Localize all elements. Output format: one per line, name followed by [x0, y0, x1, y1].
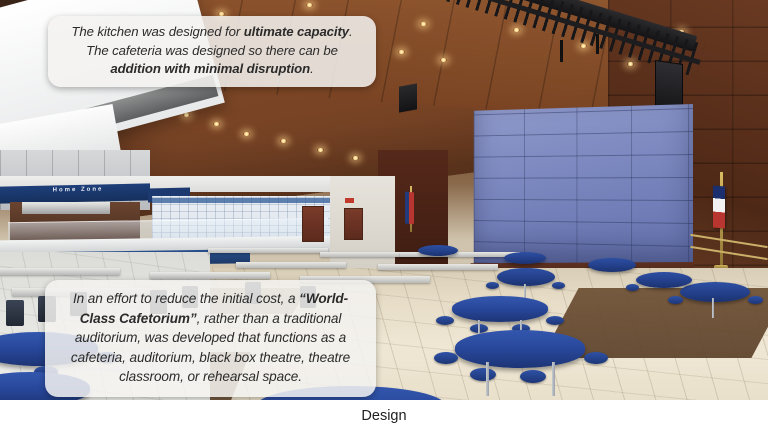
blue-acoustic-stage-wall	[474, 104, 693, 270]
ceiling-downlight	[213, 122, 220, 126]
texas-flag	[713, 185, 725, 228]
table-stool	[434, 352, 458, 364]
ceiling-downlight	[440, 58, 447, 62]
rect-table	[0, 268, 120, 275]
callout-world-class-cafetorium: In an effort to reduce the initial cost,…	[45, 280, 376, 397]
cafeteria-table	[497, 268, 555, 286]
exit-door-secondary	[344, 208, 363, 240]
ceiling-downlight	[183, 113, 190, 117]
callout-kitchen-capacity: The kitchen was designed for ultimate ca…	[48, 16, 376, 87]
rect-table	[208, 248, 328, 253]
callout-1-seg-3-bold: addition with minimal disruption	[110, 61, 310, 76]
table-leg	[712, 298, 714, 318]
ceiling-downlight	[306, 3, 313, 7]
us-flag	[405, 192, 414, 225]
cafeteria-table	[418, 245, 458, 256]
table-stool	[486, 282, 499, 289]
table-stool	[584, 352, 608, 364]
slide-caption-label: Design	[361, 408, 406, 424]
cafeteria-table	[504, 252, 546, 264]
table-leg	[486, 362, 489, 396]
table-stool	[470, 368, 496, 381]
truss-hanger	[596, 34, 599, 54]
cafeteria-table	[680, 282, 750, 302]
hanging-speaker-small	[399, 83, 417, 112]
cafeteria-table	[455, 330, 585, 368]
rect-table	[378, 264, 498, 270]
ceiling-downlight	[513, 28, 520, 32]
rect-table	[236, 262, 346, 268]
ceiling-downlight	[580, 44, 587, 48]
slide-root: Home Zone	[0, 0, 768, 432]
kitchen-tile-accent-band	[152, 198, 332, 203]
callout-1-seg-0: The kitchen was designed for	[71, 24, 243, 39]
table-leg	[552, 362, 555, 396]
table-stool	[520, 370, 546, 383]
ceiling-downlight	[352, 156, 359, 160]
table-stool	[436, 316, 454, 325]
ceiling-downlight	[398, 50, 405, 54]
rect-table	[400, 252, 520, 257]
kitchen-exhaust-hood	[22, 202, 110, 214]
table-stool	[626, 284, 639, 291]
truss-hanger	[560, 40, 563, 62]
exit-sign	[345, 198, 354, 203]
cafeteria-table	[452, 296, 548, 322]
rect-table	[150, 272, 270, 279]
callout-2-text: In an effort to reduce the initial cost,…	[71, 291, 350, 384]
cafeteria-table	[636, 272, 692, 288]
table-stool	[748, 296, 763, 304]
ceiling-downlight	[627, 62, 634, 66]
ceiling-downlight	[420, 22, 427, 26]
slide-caption-bar: Design	[0, 400, 768, 432]
stack-chair	[6, 300, 24, 326]
callout-1-seg-1-bold: ultimate capacity	[244, 24, 349, 39]
table-stool	[668, 296, 683, 304]
callout-1-seg-4: .	[310, 61, 314, 76]
exit-door	[302, 206, 324, 242]
cafeteria-table	[588, 258, 636, 272]
ceiling-downlight	[243, 132, 250, 136]
table-stool	[546, 316, 564, 325]
callout-2-seg-0: In an effort to reduce the initial cost,…	[73, 291, 299, 306]
table-stool	[552, 282, 565, 289]
ceiling-downlight	[280, 139, 287, 143]
ceiling-downlight	[317, 148, 324, 152]
callout-1-text: The kitchen was designed for ultimate ca…	[71, 24, 352, 76]
